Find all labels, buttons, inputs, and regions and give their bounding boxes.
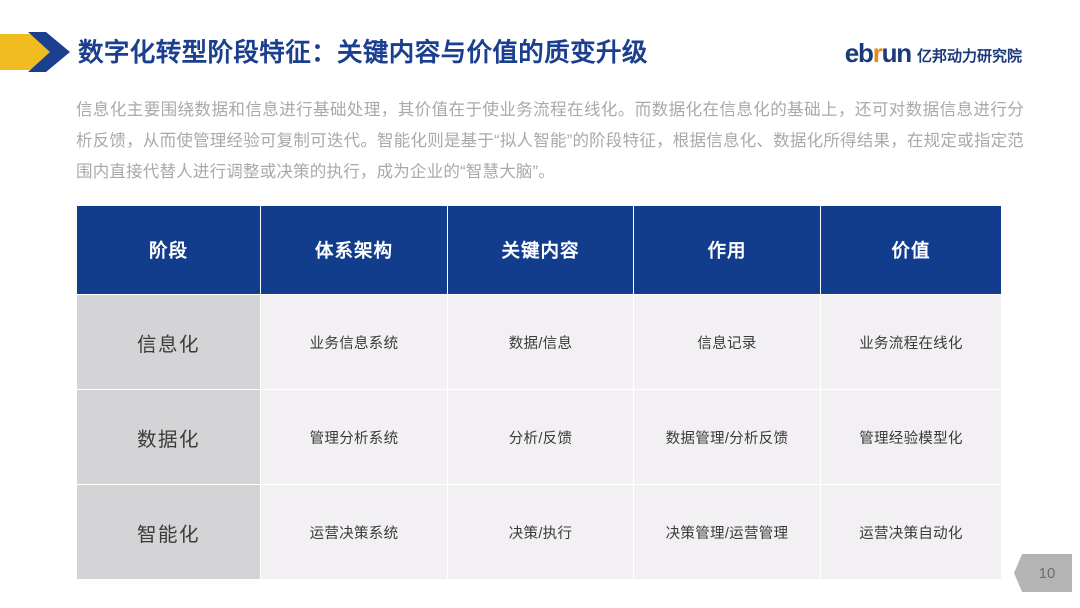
cell-key-content: 分析/反馈 [448,390,633,484]
brand-logo-latin: ebrun [845,40,911,66]
cell-function: 信息记录 [634,295,820,389]
cell-function: 数据管理/分析反馈 [634,390,820,484]
table-row: 数据化 管理分析系统 分析/反馈 数据管理/分析反馈 管理经验模型化 [77,390,1001,484]
cell-architecture: 管理分析系统 [261,390,447,484]
cell-stage: 智能化 [77,485,260,579]
brand-logo-latin-part1: eb [845,38,873,68]
cell-function: 决策管理/运营管理 [634,485,820,579]
double-arrow-icon [0,28,74,76]
brand-logo-chinese: 亿邦动力研究院 [917,48,1022,66]
body-paragraph: 信息化主要围绕数据和信息进行基础处理，其价值在于使业务流程在线化。而数据化在信息… [76,95,1024,188]
table-header-architecture: 体系架构 [261,206,447,294]
page-title: 数字化转型阶段特征：关键内容与价值的质变升级 [78,36,818,70]
cell-key-content: 决策/执行 [448,485,633,579]
cell-value: 运营决策自动化 [821,485,1001,579]
table-header-stage: 阶段 [77,206,260,294]
cell-architecture: 业务信息系统 [261,295,447,389]
table-header-row: 阶段 体系架构 关键内容 作用 价值 [77,206,1001,294]
stage-characteristics-table: 阶段 体系架构 关键内容 作用 价值 信息化 业务信息系统 数据/信息 信息记录… [76,205,1002,580]
cell-key-content: 数据/信息 [448,295,633,389]
brand-logo: ebrun 亿邦动力研究院 [845,40,1022,68]
brand-logo-latin-part2: un [882,38,911,68]
page-number-badge: 10 [1014,554,1072,592]
slide-canvas: 数字化转型阶段特征：关键内容与价值的质变升级 ebrun 亿邦动力研究院 信息化… [0,0,1080,608]
table-header-value: 价值 [821,206,1001,294]
cell-value: 管理经验模型化 [821,390,1001,484]
table-row: 信息化 业务信息系统 数据/信息 信息记录 业务流程在线化 [77,295,1001,389]
cell-stage: 信息化 [77,295,260,389]
page-number: 10 [1014,554,1072,592]
brand-logo-latin-accent: r [873,38,882,68]
table-row: 智能化 运营决策系统 决策/执行 决策管理/运营管理 运营决策自动化 [77,485,1001,579]
cell-stage: 数据化 [77,390,260,484]
cell-value: 业务流程在线化 [821,295,1001,389]
cell-architecture: 运营决策系统 [261,485,447,579]
table-header-function: 作用 [634,206,820,294]
table-header-key-content: 关键内容 [448,206,633,294]
